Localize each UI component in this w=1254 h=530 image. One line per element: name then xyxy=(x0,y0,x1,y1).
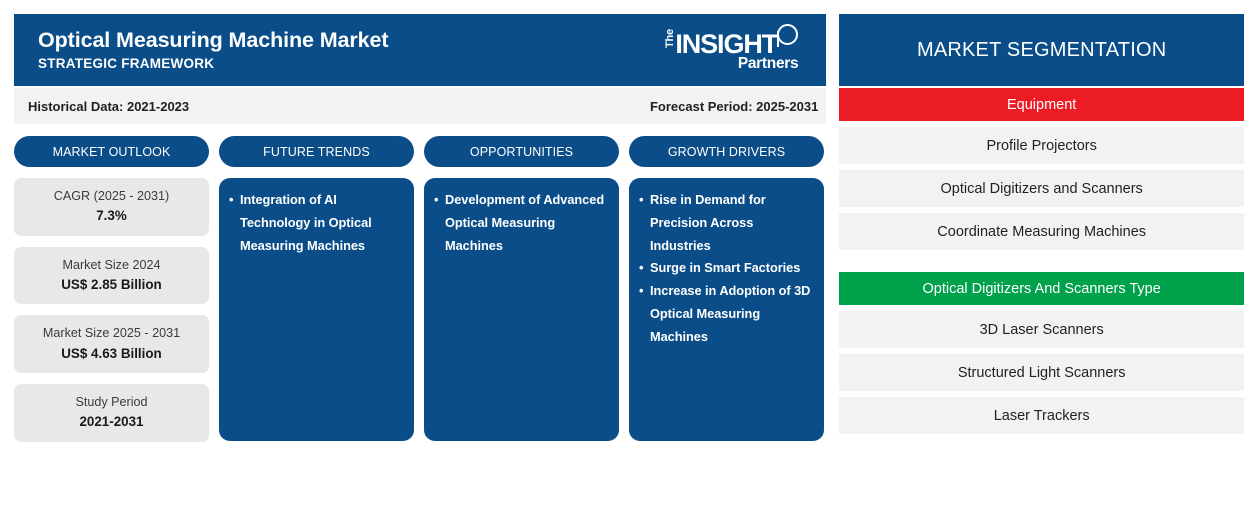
segmentation-heading-scanner-type: Optical Digitizers And Scanners Type xyxy=(839,272,1244,305)
list-item: Integration of AI Technology in Optical … xyxy=(229,189,402,257)
historical-data-label: Historical Data: 2021-2023 xyxy=(28,99,189,114)
stat-label: CAGR (2025 - 2031) xyxy=(20,187,203,205)
column-heading-future-trends: FUTURE TRENDS xyxy=(219,136,414,167)
growth-drivers-bullet-list: Rise in Demand for Precision Across Indu… xyxy=(639,189,812,348)
stat-value: 2021-2031 xyxy=(20,412,203,431)
strategic-framework-panel: Optical Measuring Machine Market STRATEG… xyxy=(14,14,826,530)
column-heading-growth-drivers: GROWTH DRIVERS xyxy=(629,136,824,167)
list-item: Optical Digitizers and Scanners xyxy=(839,170,1244,207)
column-growth-drivers: GROWTH DRIVERS Rise in Demand for Precis… xyxy=(629,136,824,442)
title-block: Optical Measuring Machine Market STRATEG… xyxy=(38,28,388,72)
framework-columns: MARKET OUTLOOK CAGR (2025 - 2031) 7.3% M… xyxy=(14,136,826,442)
list-item: Rise in Demand for Precision Across Indu… xyxy=(639,189,812,257)
period-bar: Historical Data: 2021-2023 Forecast Peri… xyxy=(14,88,826,124)
logo-partners-text: Partners xyxy=(738,55,799,73)
stat-value: US$ 4.63 Billion xyxy=(20,344,203,363)
title-bar: Optical Measuring Machine Market STRATEG… xyxy=(14,14,826,86)
infographic-canvas: Optical Measuring Machine Market STRATEG… xyxy=(0,0,1254,530)
list-item: Laser Trackers xyxy=(839,397,1244,434)
insight-partners-logo: The INSIGHT Partners xyxy=(664,23,804,77)
stat-card-cagr: CAGR (2025 - 2031) 7.3% xyxy=(14,178,209,236)
opportunities-bullet-list: Development of Advanced Optical Measurin… xyxy=(434,189,607,257)
list-item: Development of Advanced Optical Measurin… xyxy=(434,189,607,257)
segmentation-title: MARKET SEGMENTATION xyxy=(839,14,1244,86)
page-subtitle: STRATEGIC FRAMEWORK xyxy=(38,55,388,73)
column-heading-opportunities: OPPORTUNITIES xyxy=(424,136,619,167)
page-title: Optical Measuring Machine Market xyxy=(38,28,388,53)
list-item: Surge in Smart Factories xyxy=(639,257,812,280)
list-item: Structured Light Scanners xyxy=(839,354,1244,391)
future-trends-bullet-list: Integration of AI Technology in Optical … xyxy=(229,189,402,257)
list-item: Coordinate Measuring Machines xyxy=(839,213,1244,250)
list-item: Increase in Adoption of 3D Optical Measu… xyxy=(639,280,812,348)
stat-label: Market Size 2024 xyxy=(20,256,203,274)
stat-label: Study Period xyxy=(20,393,203,411)
stat-card-market-size-2024: Market Size 2024 US$ 2.85 Billion xyxy=(14,247,209,305)
segmentation-group-scanner-type: Optical Digitizers And Scanners Type 3D … xyxy=(839,270,1244,434)
magnifier-lens-icon xyxy=(777,24,798,45)
column-opportunities: OPPORTUNITIES Development of Advanced Op… xyxy=(424,136,619,442)
stat-card-market-size-forecast: Market Size 2025 - 2031 US$ 4.63 Billion xyxy=(14,315,209,373)
segmentation-heading-equipment: Equipment xyxy=(839,88,1244,121)
stat-label: Market Size 2025 - 2031 xyxy=(20,324,203,342)
opportunities-card: Development of Advanced Optical Measurin… xyxy=(424,178,619,441)
column-market-outlook: MARKET OUTLOOK CAGR (2025 - 2031) 7.3% M… xyxy=(14,136,209,442)
market-segmentation-panel: MARKET SEGMENTATION Equipment Profile Pr… xyxy=(839,14,1244,530)
stat-value: US$ 2.85 Billion xyxy=(20,275,203,294)
list-item: 3D Laser Scanners xyxy=(839,311,1244,348)
future-trends-card: Integration of AI Technology in Optical … xyxy=(219,178,414,441)
stat-card-study-period: Study Period 2021-2031 xyxy=(14,384,209,442)
growth-drivers-card: Rise in Demand for Precision Across Indu… xyxy=(629,178,824,441)
segmentation-group-equipment: Equipment Profile Projectors Optical Dig… xyxy=(839,86,1244,250)
list-item: Profile Projectors xyxy=(839,127,1244,164)
market-outlook-stats: CAGR (2025 - 2031) 7.3% Market Size 2024… xyxy=(14,178,209,442)
forecast-period-label: Forecast Period: 2025-2031 xyxy=(650,99,818,114)
stat-value: 7.3% xyxy=(20,206,203,225)
column-future-trends: FUTURE TRENDS Integration of AI Technolo… xyxy=(219,136,414,442)
column-heading-market-outlook: MARKET OUTLOOK xyxy=(14,136,209,167)
